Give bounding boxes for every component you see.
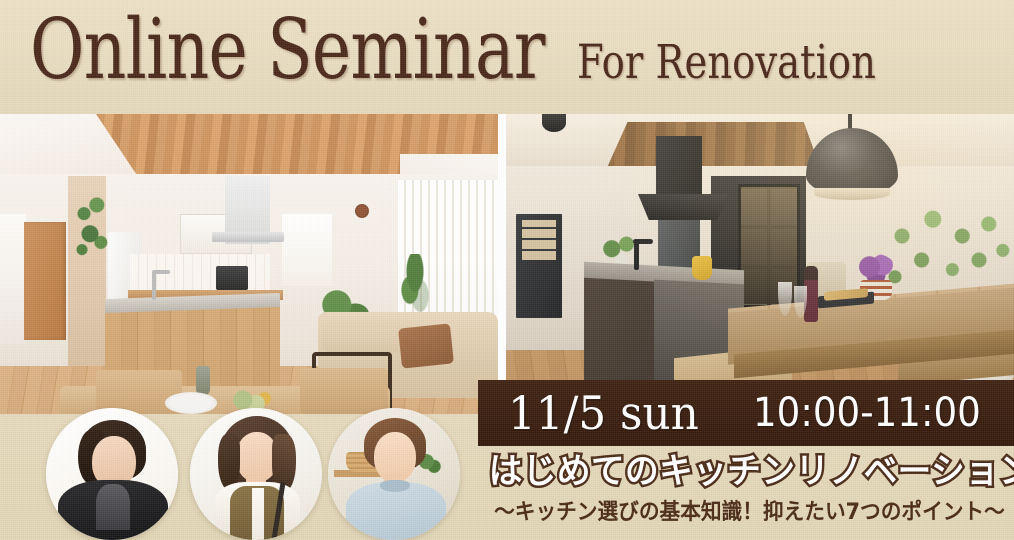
- avatar: [190, 408, 322, 540]
- header-band: Online Seminar For Renovation: [0, 0, 1014, 116]
- photo-strip: [0, 114, 1014, 414]
- date-time-banner: 11/5 sun 10:00-11:00: [478, 380, 1014, 446]
- photo-left-light-overlay: [0, 114, 498, 414]
- seminar-subheading: 〜キッチン選びの基本知識！抑えたい7つのポイント〜: [494, 500, 998, 526]
- photo-left-scene: [0, 114, 498, 414]
- seminar-title-block: はじめてのキッチンリノベーション 〜キッチン選びの基本知識！抑えたい7つのポイン…: [478, 448, 1014, 540]
- photo-right-light-overlay: [506, 114, 1014, 414]
- presenter-avatars: [0, 403, 470, 540]
- page-subtitle: For Renovation: [577, 39, 876, 86]
- photo-bright-kitchen: [0, 114, 498, 414]
- photo-divider: [498, 114, 506, 414]
- seminar-date: 11/5 sun: [508, 390, 699, 436]
- photo-dark-kitchen: [506, 114, 1014, 414]
- collar-shape: [380, 480, 410, 492]
- avatar: [328, 408, 460, 540]
- inner-shirt-shape: [96, 484, 130, 530]
- seminar-time: 10:00-11:00: [753, 393, 981, 433]
- avatar: [46, 408, 178, 540]
- vest-opening-shape: [252, 488, 264, 540]
- photo-right-scene: [506, 114, 1014, 414]
- seminar-poster: Online Seminar For Renovation: [0, 0, 1014, 540]
- page-title: Online Seminar: [30, 8, 545, 91]
- title-row: Online Seminar For Renovation: [30, 8, 942, 91]
- seminar-heading: はじめてのキッチンリノベーション: [489, 452, 1004, 492]
